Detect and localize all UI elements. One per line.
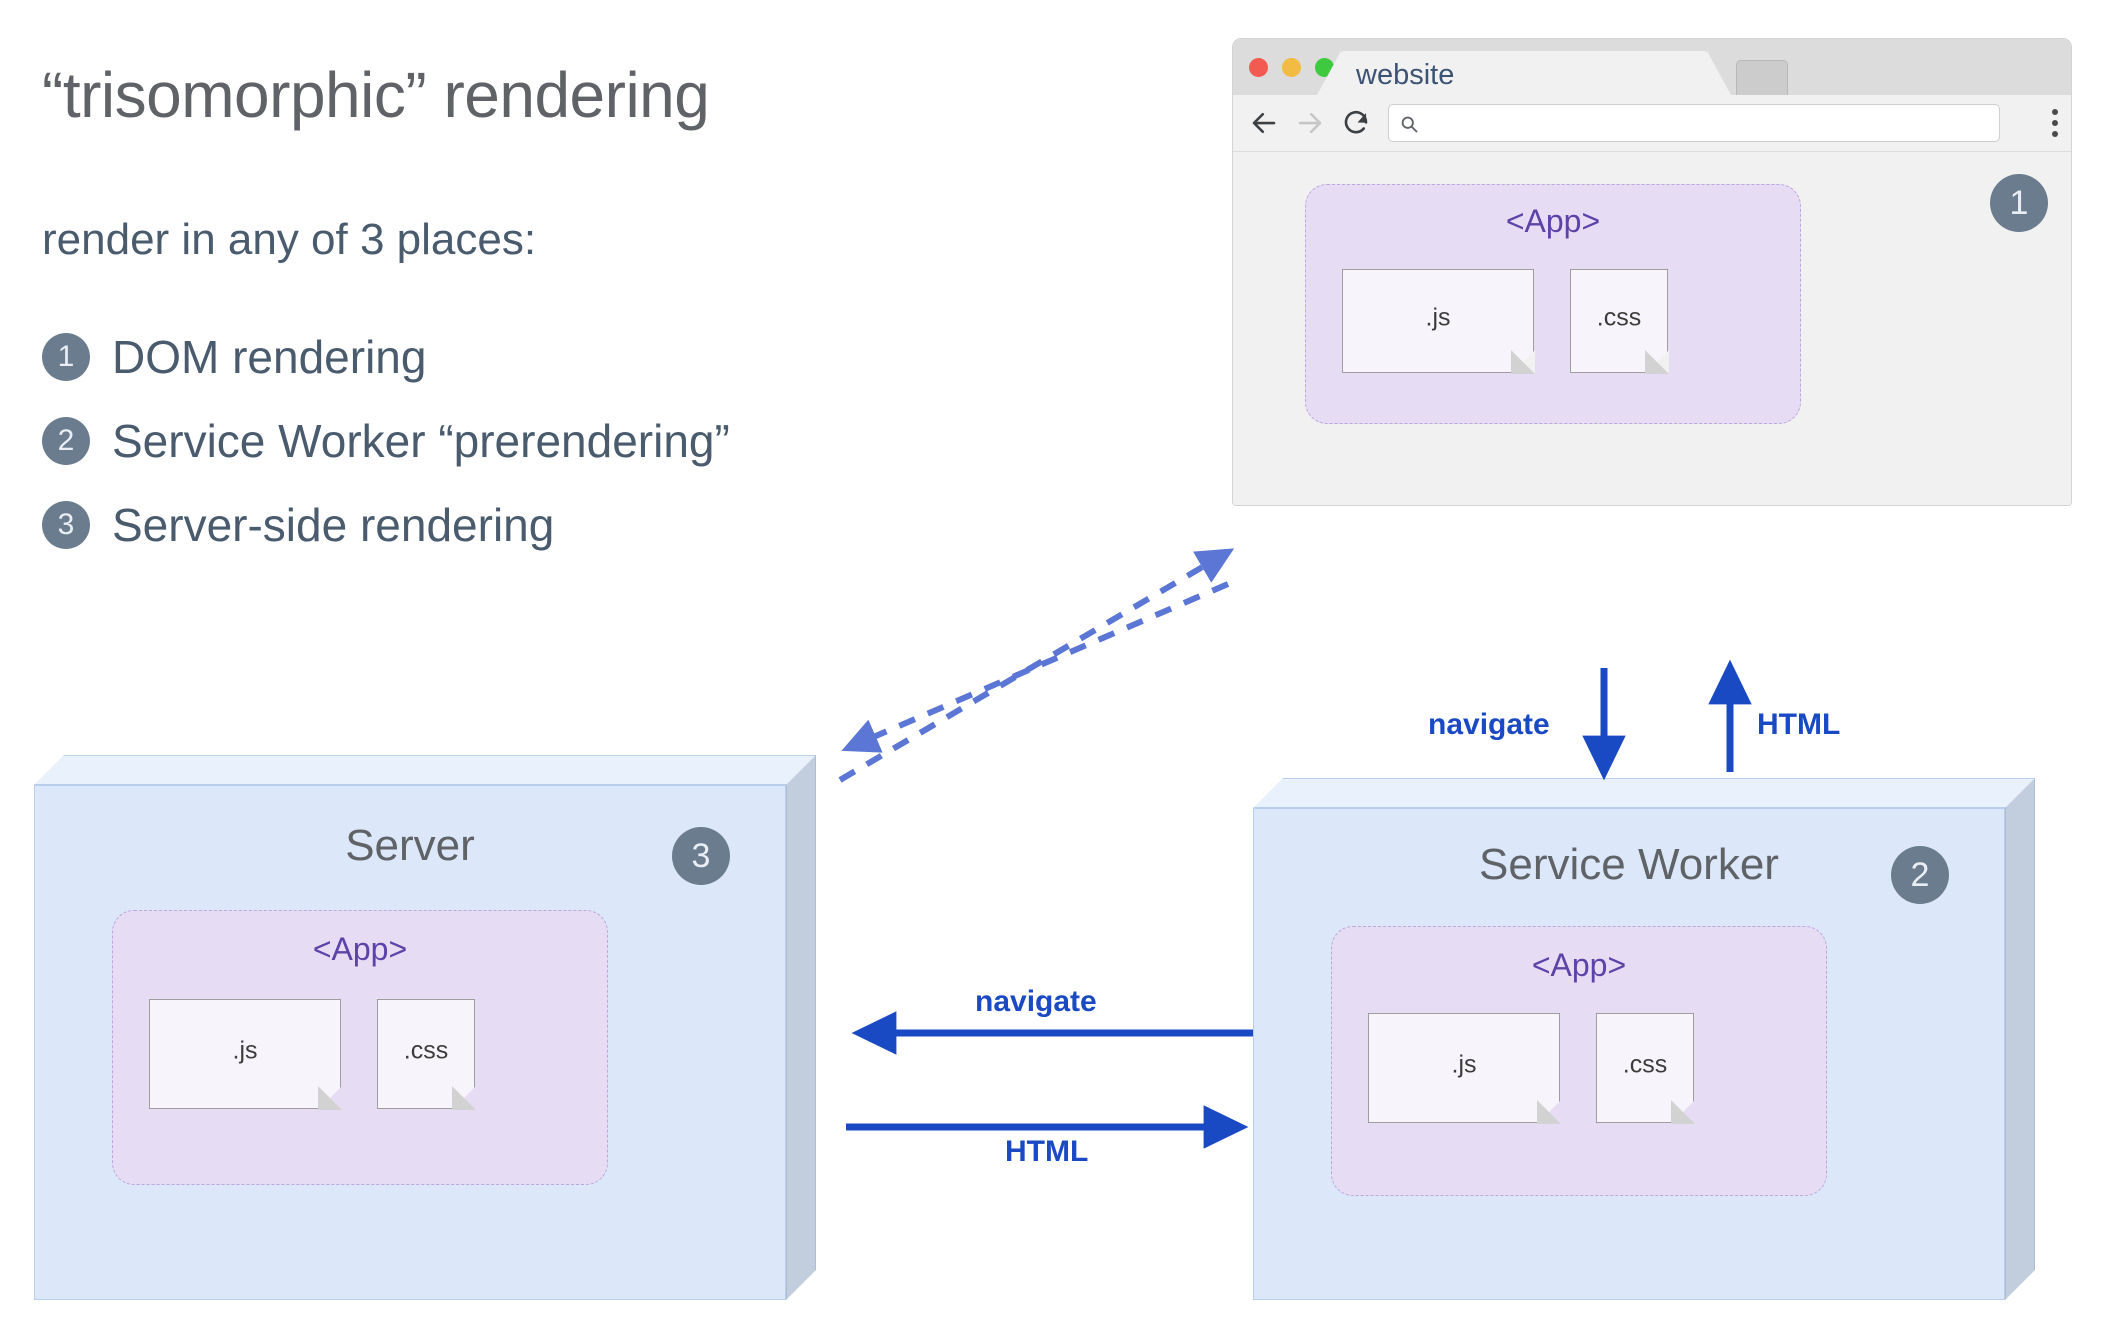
- file-card-label: .js: [1369, 1051, 1559, 1080]
- list-item-label: Server-side rendering: [112, 498, 554, 552]
- file-card-css: .css: [377, 999, 475, 1109]
- list-number-badge: 1: [42, 333, 90, 381]
- sw-box-side-face: [2005, 778, 2035, 1300]
- server-box: Server 3 <App> .js .css: [34, 755, 846, 1300]
- page-title: “trisomorphic” rendering: [42, 58, 709, 132]
- three-dot-menu-icon[interactable]: [2052, 109, 2058, 137]
- app-container-browser: <App> .js .css: [1305, 184, 1801, 424]
- app-container-server: <App> .js .css: [112, 910, 608, 1185]
- arrow-dashed-server-to-browser: [840, 552, 1228, 780]
- app-label: <App>: [1332, 947, 1826, 984]
- browser-tab-title: website: [1356, 59, 1454, 92]
- sw-box-top-face: [1253, 778, 2035, 808]
- browser-tab-inactive[interactable]: [1736, 60, 1788, 97]
- address-bar[interactable]: [1388, 104, 2000, 142]
- arrow-label-navigate-mid: navigate: [975, 985, 1097, 1019]
- file-card-label: .js: [1343, 304, 1533, 333]
- browser-tab-active[interactable]: website: [1338, 51, 1710, 95]
- browser-tab-bar: website: [1233, 39, 2071, 95]
- status-badge: 3: [672, 827, 730, 885]
- list-number-badge: 2: [42, 417, 90, 465]
- server-box-top-face: [34, 755, 816, 785]
- list-item: 2 Service Worker “prerendering”: [42, 399, 1002, 483]
- file-card-label: .js: [150, 1037, 340, 1066]
- list-item: 3 Server-side rendering: [42, 483, 1002, 567]
- list-item-label: Service Worker “prerendering”: [112, 414, 730, 468]
- places-list: 1 DOM rendering 2 Service Worker “preren…: [42, 315, 1002, 567]
- arrow-dashed-browser-to-server: [848, 584, 1228, 748]
- reload-icon[interactable]: [1341, 108, 1371, 138]
- arrow-label-html-mid: HTML: [1005, 1135, 1088, 1169]
- browser-window: website: [1232, 38, 2072, 506]
- browser-toolbar: [1233, 95, 2071, 152]
- arrow-label-navigate-top: navigate: [1428, 708, 1550, 742]
- search-icon: [1399, 114, 1419, 134]
- status-badge: 1: [1990, 174, 2048, 232]
- file-card-css: .css: [1596, 1013, 1694, 1123]
- file-card-js: .js: [149, 999, 341, 1109]
- back-arrow-icon[interactable]: [1249, 108, 1279, 138]
- app-label: <App>: [1306, 203, 1800, 240]
- page-subtitle: render in any of 3 places:: [42, 215, 536, 265]
- list-item: 1 DOM rendering: [42, 315, 1002, 399]
- file-card-label: .css: [1597, 1051, 1693, 1080]
- close-button[interactable]: [1249, 58, 1268, 77]
- list-number-badge: 3: [42, 501, 90, 549]
- file-card-js: .js: [1368, 1013, 1560, 1123]
- minimize-button[interactable]: [1282, 58, 1301, 77]
- service-worker-box: Service Worker 2 <App> .js .css: [1253, 778, 2065, 1300]
- file-card-js: .js: [1342, 269, 1534, 373]
- list-item-label: DOM rendering: [112, 330, 426, 384]
- app-label: <App>: [113, 931, 607, 968]
- server-box-side-face: [786, 755, 816, 1300]
- app-container-sw: <App> .js .css: [1331, 926, 1827, 1196]
- file-card-label: .css: [1571, 304, 1667, 333]
- arrow-label-html-top: HTML: [1757, 708, 1840, 742]
- forward-arrow-icon: [1295, 108, 1325, 138]
- status-badge: 2: [1891, 846, 1949, 904]
- file-card-label: .css: [378, 1037, 474, 1066]
- file-card-css: .css: [1570, 269, 1668, 373]
- browser-viewport: 1 <App> .js .css: [1233, 152, 2071, 506]
